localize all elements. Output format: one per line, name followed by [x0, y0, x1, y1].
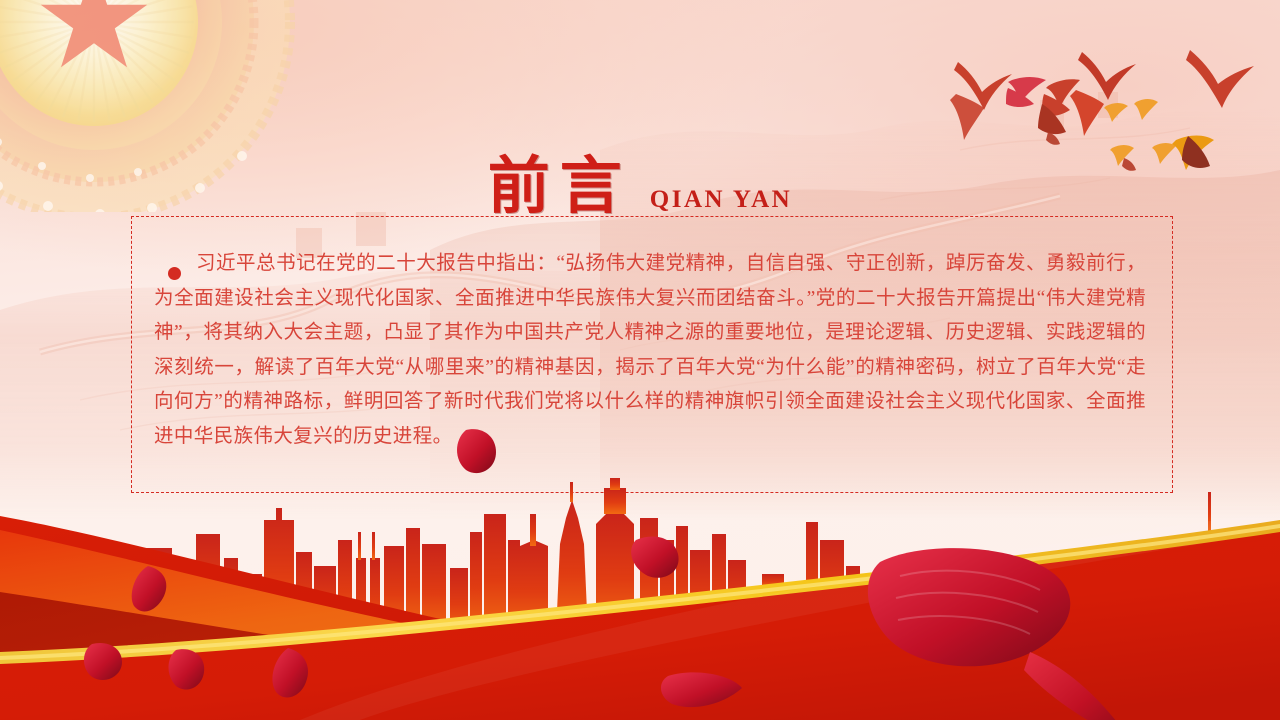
bullet-icon: [168, 267, 181, 280]
title-chinese: 前言: [488, 156, 632, 218]
red-gold-ribbon-wave: [0, 420, 1280, 720]
slide-canvas: 前言 QIAN YAN 习近平总书记在党的二十大报告中指出：“弘扬伟大建党精神，…: [0, 0, 1280, 720]
title-pinyin: QIAN YAN: [650, 187, 792, 218]
page-title: 前言 QIAN YAN: [0, 132, 1280, 218]
